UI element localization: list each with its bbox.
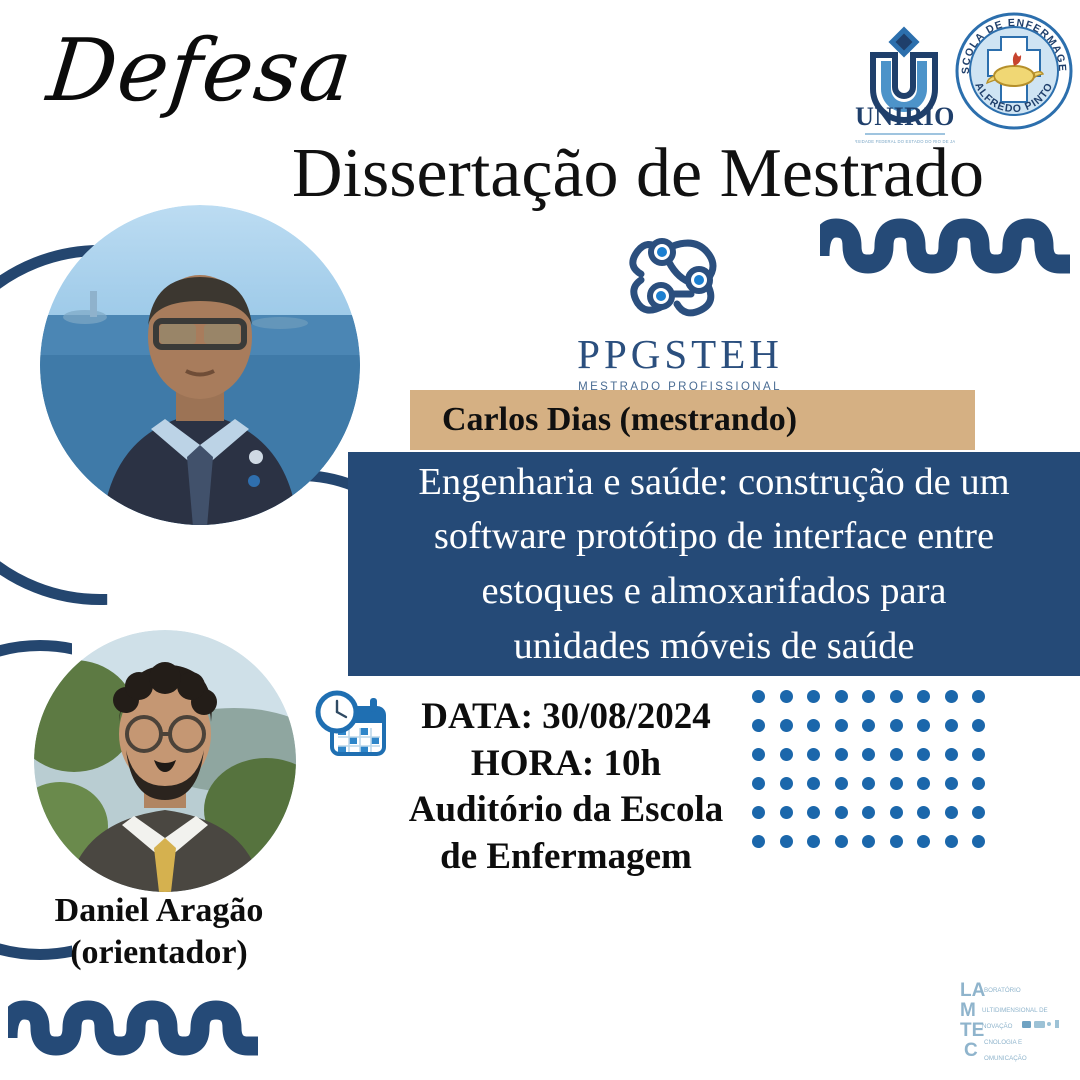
svg-text:TE: TE xyxy=(960,1020,984,1041)
dot xyxy=(780,690,793,703)
dot xyxy=(835,777,848,790)
dissertation-title-band: Engenharia e saúde: construção de um sof… xyxy=(348,452,1080,676)
dot xyxy=(945,748,958,761)
dot xyxy=(917,835,930,848)
dissertation-title-line: estoques e almoxarifados para xyxy=(481,564,946,619)
dot xyxy=(890,835,903,848)
dot xyxy=(917,748,930,761)
dot xyxy=(862,806,875,819)
candidate-photo xyxy=(40,205,360,525)
advisor-name: Daniel Aragão xyxy=(24,890,294,932)
dot-grid-row xyxy=(752,690,1000,719)
dot xyxy=(945,777,958,790)
svg-text:C: C xyxy=(964,1040,978,1061)
advisor-caption: Daniel Aragão (orientador) xyxy=(24,890,294,974)
candidate-name-label: Carlos Dias (mestrando) xyxy=(410,401,797,439)
wave-decoration-bottom xyxy=(8,998,258,1058)
event-details: DATA: 30/08/2024 HORA: 10h Auditório da … xyxy=(392,694,740,880)
dot xyxy=(807,806,820,819)
dot xyxy=(945,719,958,732)
event-venue-line-2: de Enfermagem xyxy=(392,834,740,881)
dot xyxy=(807,777,820,790)
dot xyxy=(862,777,875,790)
dot xyxy=(972,748,985,761)
dot xyxy=(917,777,930,790)
dot xyxy=(917,690,930,703)
candidate-name-band: Carlos Dias (mestrando) xyxy=(410,390,975,450)
svg-text:BORATÓRIO: BORATÓRIO xyxy=(984,987,1021,994)
dot xyxy=(835,690,848,703)
event-date: DATA: 30/08/2024 xyxy=(392,694,740,741)
dot xyxy=(780,835,793,848)
dot xyxy=(917,719,930,732)
advisor-role: (orientador) xyxy=(24,932,294,974)
calendar-clock-icon xyxy=(312,690,390,764)
svg-text:UNIRIO: UNIRIO xyxy=(855,102,955,131)
event-time: HORA: 10h xyxy=(392,741,740,788)
dot xyxy=(972,777,985,790)
dot xyxy=(972,806,985,819)
dot xyxy=(752,777,765,790)
dot xyxy=(807,748,820,761)
page-kicker: Defesa xyxy=(43,28,356,114)
dot xyxy=(862,690,875,703)
lamtec-logo: LA M TE C BORATÓRIO ULTIDIMENSIONAL DE N… xyxy=(954,970,1064,1066)
dot xyxy=(890,777,903,790)
svg-text:LA: LA xyxy=(960,980,986,1001)
dot xyxy=(862,835,875,848)
unirio-logo: UNIRIO UNIVERSIDADE FEDERAL DO ESTADO DO… xyxy=(855,25,955,145)
dot-grid-row xyxy=(752,748,1000,777)
dot xyxy=(807,719,820,732)
dot xyxy=(780,806,793,819)
dot xyxy=(917,806,930,819)
dot xyxy=(890,806,903,819)
ppgsteh-network-icon xyxy=(615,232,745,328)
wave-decoration-top xyxy=(820,216,1070,276)
dot xyxy=(972,719,985,732)
dissertation-title-line: Engenharia e saúde: construção de um xyxy=(418,455,1009,510)
dot xyxy=(835,748,848,761)
svg-text:NOVAÇÃO: NOVAÇÃO xyxy=(982,1023,1013,1030)
escola-enfermagem-seal: ESCOLA DE ENFERMAGEM ALFREDO PINTO xyxy=(955,12,1073,130)
svg-text:CNOLOGIA E: CNOLOGIA E xyxy=(984,1039,1022,1046)
dot xyxy=(890,690,903,703)
dot-grid-decoration xyxy=(752,690,1000,864)
dot xyxy=(890,719,903,732)
svg-text:ULTIDIMENSIONAL DE: ULTIDIMENSIONAL DE xyxy=(982,1007,1048,1014)
dot xyxy=(752,806,765,819)
dot xyxy=(752,748,765,761)
dot xyxy=(780,748,793,761)
dissertation-title-line: software protótipo de interface entre xyxy=(434,509,994,564)
dot-grid-row xyxy=(752,719,1000,748)
dot xyxy=(835,835,848,848)
dot xyxy=(890,748,903,761)
svg-text:OMUNICAÇÃO: OMUNICAÇÃO xyxy=(984,1055,1027,1062)
advisor-photo xyxy=(34,630,296,892)
dot-grid-row xyxy=(752,835,1000,864)
dot xyxy=(752,835,765,848)
dissertation-title-line: unidades móveis de saúde xyxy=(514,619,915,674)
dot xyxy=(780,777,793,790)
dot-grid-row xyxy=(752,777,1000,806)
dot xyxy=(972,690,985,703)
dot xyxy=(780,719,793,732)
event-venue-line-1: Auditório da Escola xyxy=(392,787,740,834)
dot xyxy=(862,719,875,732)
ppgsteh-logo: PPGSTEH MESTRADO PROFISSIONAL xyxy=(555,232,805,393)
svg-text:UNIVERSIDADE FEDERAL DO ESTADO: UNIVERSIDADE FEDERAL DO ESTADO DO RIO DE… xyxy=(855,139,955,144)
dot xyxy=(945,835,958,848)
dot xyxy=(862,748,875,761)
poster-canvas: Defesa Dissertação de Mestrado UNIRIO UN… xyxy=(0,0,1080,1080)
page-title: Dissertação de Mestrado xyxy=(292,139,984,209)
dot xyxy=(752,690,765,703)
dot xyxy=(807,690,820,703)
dot xyxy=(807,835,820,848)
dot xyxy=(945,806,958,819)
dot xyxy=(752,719,765,732)
dot xyxy=(835,719,848,732)
dot-grid-row xyxy=(752,806,1000,835)
dot xyxy=(835,806,848,819)
dot xyxy=(972,835,985,848)
svg-text:M: M xyxy=(960,1000,976,1021)
dot xyxy=(945,690,958,703)
ppgsteh-acronym: PPGSTEH xyxy=(555,330,805,378)
